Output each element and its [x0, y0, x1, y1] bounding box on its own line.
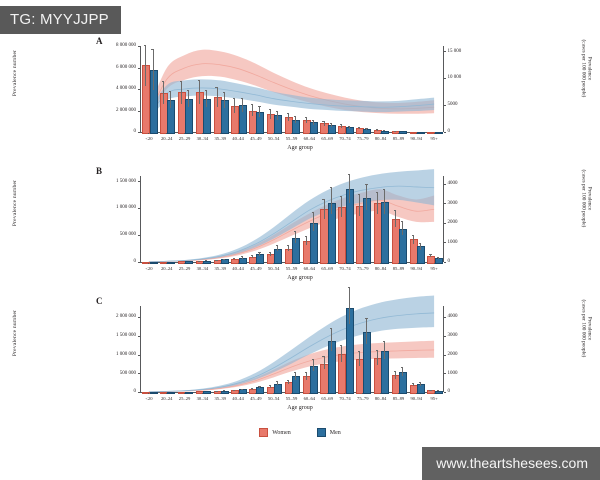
- bar-men: [221, 259, 229, 264]
- bar-men: [185, 392, 193, 394]
- y-tick-right: [444, 132, 446, 133]
- legend-label-men: Men: [330, 430, 341, 436]
- y-tick-label-right: 0: [448, 129, 451, 134]
- x-tick: [202, 133, 203, 135]
- x-tick-label: 90–94: [411, 396, 422, 401]
- error-bar: [295, 116, 296, 123]
- error-bar-cap: [251, 255, 253, 256]
- error-bar-cap: [287, 380, 289, 381]
- x-tick: [380, 263, 381, 265]
- error-bar: [420, 243, 421, 250]
- y-tick-label-right: 3000: [448, 201, 458, 206]
- bar-men: [203, 99, 211, 134]
- y-tick-left: [138, 317, 140, 318]
- x-tick: [255, 393, 256, 395]
- y-tick-left: [138, 132, 140, 133]
- error-bar-cap: [358, 127, 360, 128]
- error-bar: [277, 245, 278, 252]
- bar-men: [381, 202, 389, 264]
- error-bar-cap: [258, 386, 260, 387]
- error-bar: [324, 121, 325, 126]
- bar-men: [346, 127, 354, 134]
- bar-men: [203, 391, 211, 394]
- x-tick-label: 70–74: [339, 396, 350, 401]
- error-bar-cap: [241, 256, 243, 257]
- panel-letter-b: B: [96, 166, 102, 176]
- x-tick: [184, 133, 185, 135]
- x-tick-label: 75–79: [357, 136, 368, 141]
- x-axis-label-a: Age group: [0, 145, 600, 151]
- x-tick: [202, 263, 203, 265]
- watermark-telegram: TG: MYYJJPP: [0, 6, 121, 34]
- error-bar-cap: [223, 259, 225, 260]
- error-bar-cap: [412, 383, 414, 384]
- error-bar-cap: [251, 388, 253, 389]
- chart-legend: Women Men: [0, 428, 600, 437]
- error-bar: [377, 192, 378, 215]
- y-tick-label-left: 0: [78, 389, 136, 394]
- bar-men: [435, 258, 443, 264]
- bar-men: [167, 100, 175, 134]
- error-bar-cap: [429, 390, 431, 391]
- error-bar: [288, 245, 289, 251]
- error-bar: [349, 287, 350, 324]
- x-tick-label: 45–49: [250, 396, 261, 401]
- error-bar-cap: [383, 130, 385, 131]
- error-bar: [384, 341, 385, 359]
- panel-b: BPrevalence numberPrevalence(cases per 1…: [0, 162, 600, 292]
- error-bar-cap: [358, 194, 360, 195]
- x-tick: [362, 133, 363, 135]
- error-bar: [313, 359, 314, 371]
- y-tick-right: [444, 317, 446, 318]
- bar-men: [274, 384, 282, 394]
- error-bar-cap: [215, 391, 217, 392]
- x-tick-label: 30–34: [197, 266, 208, 271]
- y-tick-right: [444, 262, 446, 263]
- x-tick-label: 20–24: [161, 136, 172, 141]
- y-tick-right: [444, 184, 446, 185]
- y-tick-label-left: 1 000 000: [78, 352, 136, 357]
- x-tick: [273, 133, 274, 135]
- bar-men: [256, 112, 264, 134]
- legend-swatch-men-icon: [317, 428, 326, 437]
- error-bar-cap: [365, 184, 367, 185]
- y-tick-label-left: 6 000 000: [78, 65, 136, 70]
- error-bar-cap: [241, 98, 243, 99]
- x-tick-label: 75–79: [357, 396, 368, 401]
- x-tick: [434, 393, 435, 395]
- error-bar: [331, 328, 332, 351]
- error-bar-cap: [269, 252, 271, 253]
- error-bar: [224, 92, 225, 109]
- error-bar-cap: [215, 260, 217, 261]
- bar-men: [399, 229, 407, 264]
- bar-men: [292, 120, 300, 134]
- x-tick: [291, 263, 292, 265]
- x-tick-label: 20–24: [161, 266, 172, 271]
- bar-men: [239, 105, 247, 134]
- error-bar: [359, 351, 360, 366]
- error-bar: [259, 106, 260, 117]
- x-tick-label: 85–89: [393, 396, 404, 401]
- x-tick: [344, 133, 345, 135]
- error-bar-cap: [233, 390, 235, 391]
- error-bar-cap: [383, 189, 385, 190]
- y-tick-label-left: 4 000 000: [78, 86, 136, 91]
- error-bar-cap: [322, 356, 324, 357]
- x-tick: [327, 133, 328, 135]
- error-bar-cap: [258, 252, 260, 253]
- x-tick: [398, 133, 399, 135]
- x-tick: [362, 393, 363, 395]
- error-bar: [252, 104, 253, 116]
- y-tick-label-left: 500 000: [78, 371, 136, 376]
- error-bar-cap: [330, 123, 332, 124]
- error-bar-cap: [412, 235, 414, 236]
- legend-item-women: Women: [259, 428, 291, 437]
- y-tick-label-right: 15 000: [448, 49, 462, 54]
- bar-men: [221, 391, 229, 395]
- panel-a: APrevalence numberPrevalence(cases per 1…: [0, 32, 600, 162]
- error-bar-cap: [394, 371, 396, 372]
- bar-men: [399, 372, 407, 394]
- x-tick: [166, 393, 167, 395]
- error-bar-cap: [365, 128, 367, 129]
- bar-men: [328, 341, 336, 394]
- x-tick: [202, 393, 203, 395]
- error-bar-cap: [305, 236, 307, 237]
- error-bar: [384, 189, 385, 214]
- x-tick-label: 65–69: [321, 396, 332, 401]
- y-axis-right-line: [443, 46, 444, 132]
- x-tick: [327, 393, 328, 395]
- error-bar-cap: [205, 90, 207, 91]
- error-bar-cap: [294, 116, 296, 117]
- error-bar-cap: [340, 124, 342, 125]
- x-tick-label: 65–69: [321, 266, 332, 271]
- error-bar-cap: [223, 92, 225, 93]
- x-tick-label: 95+: [430, 136, 437, 141]
- x-tick: [291, 393, 292, 395]
- error-bar-cap: [258, 106, 260, 107]
- bar-men: [221, 100, 229, 134]
- x-tick: [255, 263, 256, 265]
- x-tick-label: 45–49: [250, 136, 261, 141]
- y-tick-label-left: 1 500 000: [78, 179, 136, 184]
- error-bar: [277, 111, 278, 120]
- x-tick-label: 95+: [430, 266, 437, 271]
- error-bar-cap: [151, 49, 153, 50]
- error-bar-cap: [348, 287, 350, 288]
- x-tick-label: 80–84: [375, 396, 386, 401]
- error-bar: [324, 199, 325, 219]
- x-tick: [309, 133, 310, 135]
- y-tick-label-right: 0: [448, 389, 451, 394]
- x-tick-label: <20: [145, 266, 152, 271]
- error-bar: [359, 194, 360, 216]
- x-tick-label: 30–34: [197, 136, 208, 141]
- error-bar-cap: [198, 261, 200, 262]
- error-bar: [413, 235, 414, 244]
- bar-men: [185, 261, 193, 264]
- error-bar-cap: [144, 45, 146, 46]
- bar-men: [185, 99, 193, 134]
- legend-item-men: Men: [317, 428, 341, 437]
- x-tick: [148, 133, 149, 135]
- error-bar-cap: [330, 328, 332, 329]
- x-tick: [238, 133, 239, 135]
- x-tick: [416, 393, 417, 395]
- error-bar-cap: [348, 126, 350, 127]
- y-axis-right-line: [443, 306, 444, 392]
- x-tick-label: 35–39: [214, 396, 225, 401]
- error-bar: [181, 81, 182, 104]
- error-bar-cap: [401, 221, 403, 222]
- error-bar-cap: [322, 199, 324, 200]
- bar-men: [363, 198, 371, 265]
- x-tick-label: 50–54: [268, 136, 279, 141]
- y-axis-label-right-c: Prevalence(cases per 100 000 people): [580, 280, 593, 376]
- error-bar-cap: [322, 121, 324, 122]
- x-tick: [434, 263, 435, 265]
- error-bar: [366, 318, 367, 345]
- y-tick-right: [444, 51, 446, 52]
- x-tick: [291, 133, 292, 135]
- error-bar: [234, 98, 235, 113]
- x-tick-label: 60–64: [304, 396, 315, 401]
- error-bar: [313, 120, 314, 125]
- x-tick: [344, 263, 345, 265]
- y-tick-label-right: 2000: [448, 352, 458, 357]
- y-axis-left-line: [140, 46, 141, 132]
- error-bar: [242, 98, 243, 113]
- error-bar: [331, 187, 332, 214]
- bar-men: [239, 258, 247, 264]
- x-tick-label: 25–29: [179, 396, 190, 401]
- y-tick-right: [444, 203, 446, 204]
- error-bar: [306, 117, 307, 124]
- error-bar-cap: [241, 389, 243, 390]
- error-bar: [395, 210, 396, 227]
- error-bar-cap: [187, 90, 189, 91]
- x-tick-label: 50–54: [268, 266, 279, 271]
- error-bar-cap: [312, 359, 314, 360]
- error-bar-cap: [437, 390, 439, 391]
- x-tick: [344, 393, 345, 395]
- y-axis-left-line: [140, 306, 141, 392]
- bar-men: [346, 189, 354, 264]
- error-bar-cap: [276, 111, 278, 112]
- x-tick-label: 35–39: [214, 136, 225, 141]
- error-bar-cap: [269, 109, 271, 110]
- error-bar-cap: [419, 243, 421, 244]
- x-axis-label-c: Age group: [0, 405, 600, 411]
- x-tick-label: 40–44: [232, 136, 243, 141]
- error-bar-cap: [340, 345, 342, 346]
- y-tick-left: [138, 68, 140, 69]
- x-tick-label: 45–49: [250, 266, 261, 271]
- x-tick-label: <20: [145, 136, 152, 141]
- y-tick-right: [444, 105, 446, 106]
- error-bar-cap: [437, 257, 439, 258]
- error-bar: [313, 212, 314, 231]
- bar-men: [167, 392, 175, 394]
- bar-men: [363, 129, 371, 134]
- error-bar-cap: [429, 254, 431, 255]
- error-bar: [199, 80, 200, 104]
- error-bar-cap: [365, 318, 367, 319]
- y-tick-label-left: 1 000 000: [78, 205, 136, 210]
- bar-men: [399, 131, 407, 134]
- error-bar-cap: [312, 212, 314, 213]
- x-tick-label: 80–84: [375, 266, 386, 271]
- error-bar-cap: [233, 98, 235, 99]
- x-tick: [148, 263, 149, 265]
- error-bar-cap: [294, 372, 296, 373]
- x-tick: [166, 263, 167, 265]
- x-tick-label: 70–74: [339, 136, 350, 141]
- x-tick: [184, 393, 185, 395]
- y-tick-left: [138, 181, 140, 182]
- x-tick: [309, 263, 310, 265]
- x-tick: [148, 393, 149, 395]
- y-tick-left: [138, 336, 140, 337]
- x-tick-label: 30–34: [197, 396, 208, 401]
- bar-men: [417, 132, 425, 134]
- error-bar-cap: [198, 80, 200, 81]
- x-tick-label: 55–59: [286, 266, 297, 271]
- error-bar-cap: [294, 231, 296, 232]
- x-axis-label-b: Age group: [0, 275, 600, 281]
- bar-men: [167, 262, 175, 264]
- bar-men: [150, 262, 158, 264]
- error-bar: [306, 236, 307, 246]
- y-tick-label-left: 2 000 000: [78, 314, 136, 319]
- error-bar: [306, 372, 307, 379]
- x-tick: [220, 133, 221, 135]
- error-bar: [341, 345, 342, 362]
- x-tick: [380, 393, 381, 395]
- y-tick-right: [444, 242, 446, 243]
- x-tick: [220, 393, 221, 395]
- x-tick-label: 70–74: [339, 266, 350, 271]
- bar-men: [150, 392, 158, 394]
- error-bar-cap: [162, 81, 164, 82]
- error-bar-cap: [376, 129, 378, 130]
- y-tick-left: [138, 262, 140, 263]
- bar-men: [292, 376, 300, 394]
- error-bar: [270, 109, 271, 119]
- error-bar-cap: [358, 351, 360, 352]
- y-axis-label-right-a: Prevalence(cases per 100 000 people): [580, 20, 593, 116]
- bar-men: [435, 391, 443, 395]
- error-bar-cap: [287, 245, 289, 246]
- x-tick-label: 25–29: [179, 136, 190, 141]
- y-tick-left: [138, 373, 140, 374]
- bar-men: [310, 122, 318, 134]
- error-bar-cap: [394, 131, 396, 132]
- x-tick: [238, 263, 239, 265]
- bar-men: [256, 254, 264, 264]
- bar-men: [292, 238, 300, 264]
- x-tick: [362, 263, 363, 265]
- x-tick: [184, 263, 185, 265]
- x-tick: [416, 133, 417, 135]
- error-bar: [402, 221, 403, 235]
- x-tick-label: 95+: [430, 396, 437, 401]
- bar-men: [381, 131, 389, 135]
- x-tick: [398, 393, 399, 395]
- y-axis-label-left-a: Prevalence number: [12, 28, 18, 118]
- y-tick-label-right: 10 000: [448, 75, 462, 80]
- y-tick-label-right: 5000: [448, 102, 458, 107]
- error-bar-cap: [376, 192, 378, 193]
- x-tick: [238, 393, 239, 395]
- error-bar-cap: [251, 104, 253, 105]
- x-tick: [273, 263, 274, 265]
- x-tick-label: 75–79: [357, 266, 368, 271]
- error-bar: [206, 90, 207, 107]
- error-bar: [295, 372, 296, 380]
- bar-men: [417, 384, 425, 394]
- x-tick: [255, 133, 256, 135]
- bar-men: [256, 387, 264, 394]
- bar-men: [203, 261, 211, 264]
- watermark-website: www.theartshesees.com: [422, 447, 600, 480]
- y-tick-label-left: 2 000 000: [78, 108, 136, 113]
- bar-men: [239, 389, 247, 394]
- y-tick-left: [138, 46, 140, 47]
- bar-men: [363, 332, 371, 394]
- y-tick-label-left: 1 500 000: [78, 333, 136, 338]
- error-bar-cap: [401, 367, 403, 368]
- y-axis-left-line: [140, 176, 141, 262]
- y-tick-left: [138, 392, 140, 393]
- y-tick-right: [444, 223, 446, 224]
- y-tick-label-left: 8 000 000: [78, 43, 136, 48]
- y-tick-right: [444, 392, 446, 393]
- error-bar: [295, 231, 296, 243]
- legend-label-women: Women: [272, 430, 291, 436]
- legend-swatch-women-icon: [259, 428, 268, 437]
- y-tick-label-right: 1000: [448, 371, 458, 376]
- bar-men: [346, 308, 354, 394]
- error-bar-cap: [330, 187, 332, 188]
- y-tick-left: [138, 208, 140, 209]
- error-bar-cap: [348, 174, 350, 175]
- bar-men: [274, 115, 282, 134]
- error-bar-cap: [223, 390, 225, 391]
- error-bar: [170, 91, 171, 108]
- error-bar-cap: [233, 258, 235, 259]
- panel-letter-c: C: [96, 296, 103, 306]
- bar-men: [328, 125, 336, 134]
- error-bar-cap: [383, 341, 385, 342]
- y-tick-label-right: 4000: [448, 314, 458, 319]
- error-bar-cap: [340, 196, 342, 197]
- error-bar: [188, 90, 189, 107]
- x-tick: [416, 263, 417, 265]
- error-bar-cap: [276, 381, 278, 382]
- x-tick: [380, 133, 381, 135]
- bar-men: [417, 246, 425, 264]
- y-tick-label-left: 0: [78, 259, 136, 264]
- x-tick-label: 65–69: [321, 136, 332, 141]
- x-tick: [220, 263, 221, 265]
- x-tick-label: 60–64: [304, 266, 315, 271]
- error-bar-cap: [180, 81, 182, 82]
